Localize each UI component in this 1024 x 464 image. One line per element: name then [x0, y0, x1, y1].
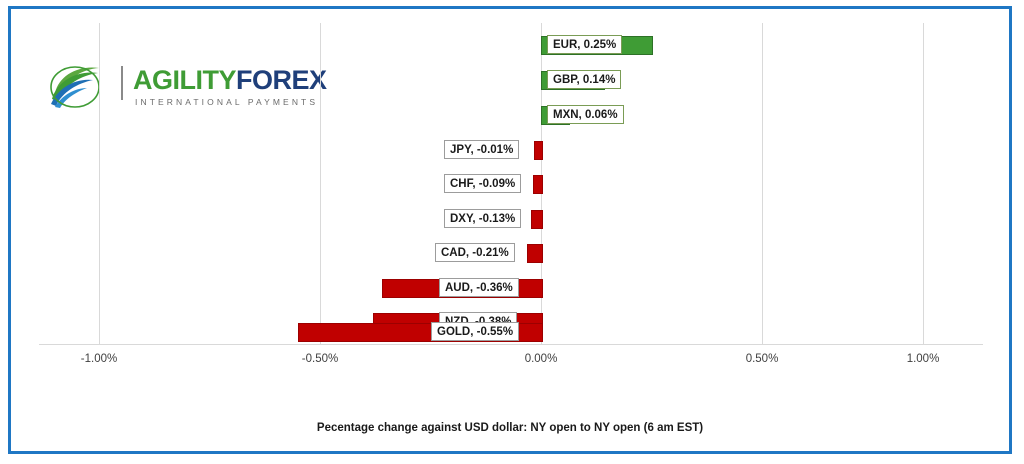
gridline-neg-1 [99, 23, 100, 345]
bar-label-gold: GOLD, -0.55% [431, 322, 519, 341]
bar-label-cad: CAD, -0.21% [435, 243, 515, 262]
x-tick-neg-1: -1.00% [59, 353, 139, 365]
bar-label-chf: CHF, -0.09% [444, 174, 521, 193]
plot-area: EUR, 0.25% GBP, 0.14% MXN, 0.06% JPY, -0… [39, 23, 983, 345]
x-tick-pos-0-5: 0.50% [722, 353, 802, 365]
bar-dxy [531, 210, 543, 229]
bar-label-eur: EUR, 0.25% [547, 35, 622, 54]
bar-label-gbp: GBP, 0.14% [547, 70, 621, 89]
bar-jpy [534, 141, 543, 160]
gridline-neg-0-5 [320, 23, 321, 345]
bar-label-jpy: JPY, -0.01% [444, 140, 519, 159]
bar-label-mxn: MXN, 0.06% [547, 105, 624, 124]
bar-cad [527, 244, 543, 263]
gridline-pos-1 [923, 23, 924, 345]
chart-frame: AGILITYFOREX INTERNATIONAL PAYMENTS EUR,… [8, 6, 1012, 454]
x-tick-pos-1: 1.00% [883, 353, 963, 365]
axis-baseline [39, 344, 983, 345]
bar-label-dxy: DXY, -0.13% [444, 209, 521, 228]
bar-label-aud: AUD, -0.36% [439, 278, 519, 297]
chart-caption: Pecentage change against USD dollar: NY … [11, 422, 1009, 434]
x-tick-zero: 0.00% [501, 353, 581, 365]
bar-chf [533, 175, 543, 194]
gridline-pos-0-5 [762, 23, 763, 345]
x-tick-neg-0-5: -0.50% [280, 353, 360, 365]
